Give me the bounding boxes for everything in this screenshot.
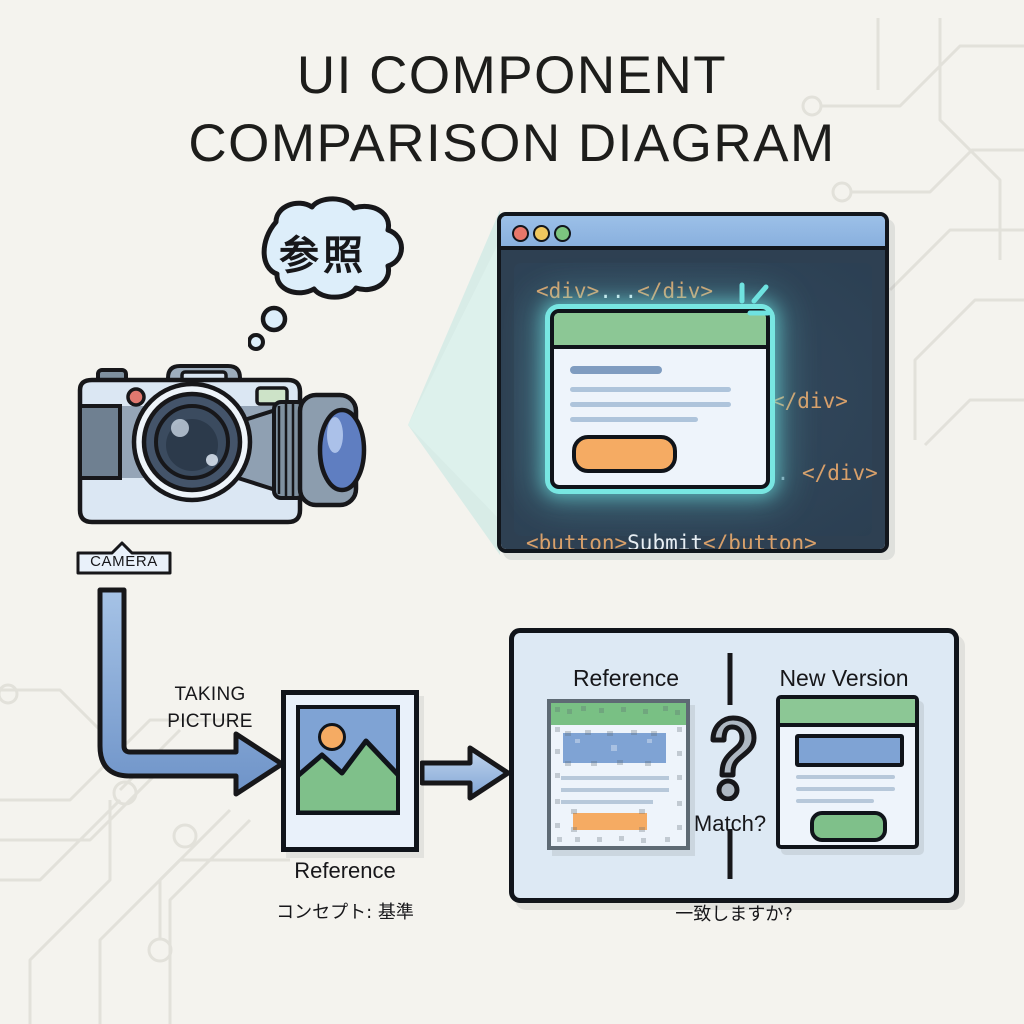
- code-ellipsis: ...: [599, 279, 637, 303]
- sparkle-icon: [736, 281, 782, 327]
- code-editor-surface: <div>...</div> </div> .. </div> <button>…: [514, 263, 872, 536]
- taking-picture-label: TAKING PICTURE: [150, 682, 270, 736]
- maximize-button-icon[interactable]: [554, 225, 571, 242]
- camera-illustration: [60, 350, 400, 550]
- code-line-div-close-2: .. </div>: [764, 461, 878, 485]
- comparison-left-header: Reference: [536, 665, 716, 692]
- comparison-panel: Reference New Version: [509, 628, 959, 903]
- reference-photo-caption: Reference: [271, 858, 419, 884]
- code-editor-body: <div>...</div> </div> .. </div> <button>…: [501, 250, 885, 549]
- code-line-div-close-1: </div>: [772, 389, 848, 413]
- thought-bubble: 参照: [228, 196, 418, 316]
- card-submit-button[interactable]: [572, 435, 677, 473]
- reference-photo-thumbnail[interactable]: [281, 690, 419, 852]
- thought-bubble-text: 参照: [228, 196, 418, 308]
- pixelation-noise-overlay: [551, 703, 686, 846]
- title-line-1: UI COMPONENT: [297, 46, 727, 105]
- new-mock-line-3: [796, 799, 874, 803]
- page-title: UI COMPONENT COMPARISON DIAGRAM: [0, 42, 1024, 178]
- card-text-line-1: [570, 387, 731, 392]
- title-line-2: COMPARISON DIAGRAM: [0, 110, 1024, 178]
- comparison-reference-mock: [547, 699, 690, 850]
- card-text-line-2: [570, 402, 731, 407]
- comparison-new-version-mock: [776, 695, 919, 849]
- question-mark-icon: [700, 715, 762, 801]
- minimize-button-icon[interactable]: [533, 225, 550, 242]
- diagram-canvas: UI COMPONENT COMPARISON DIAGRAM 参照: [0, 0, 1024, 1024]
- code-tag-div-open: <div>: [536, 279, 599, 303]
- new-mock-button: [810, 811, 887, 842]
- photo-sun-icon: [318, 723, 346, 751]
- card-header-bar: [554, 313, 766, 349]
- reference-photo-caption-jp: コンセプト: 基準: [251, 898, 439, 924]
- code-tag-button-open: <button>: [526, 531, 627, 553]
- code-line-button: <button>Submit</button>: [526, 531, 817, 553]
- taking-picture-line-2: PICTURE: [150, 709, 270, 736]
- comparison-caption-jp: 一致しますか?: [604, 900, 864, 926]
- photo-image-area: [296, 705, 400, 815]
- highlighted-ui-component-card[interactable]: [550, 309, 770, 489]
- new-mock-line-2: [796, 787, 895, 791]
- code-tag-button-close: </button>: [703, 531, 817, 553]
- camera-label-tag: [76, 545, 172, 575]
- code-editor-window[interactable]: <div>...</div> </div> .. </div> <button>…: [497, 212, 889, 553]
- card-title-line: [570, 366, 662, 374]
- close-button-icon[interactable]: [512, 225, 529, 242]
- comparison-right-header: New Version: [754, 665, 934, 692]
- taking-picture-line-1: TAKING: [150, 682, 270, 709]
- code-line-div-open: <div>...</div>: [536, 279, 713, 303]
- new-mock-line-1: [796, 775, 895, 779]
- thought-bubble-dots: [248, 305, 308, 355]
- code-tag-div-close: </div>: [637, 279, 713, 303]
- window-titlebar: [501, 216, 885, 250]
- code-tag-div-close-2: </div>: [802, 461, 878, 485]
- new-mock-header: [780, 699, 915, 727]
- match-question-label: Match?: [680, 811, 780, 837]
- card-text-line-3: [570, 417, 698, 422]
- new-mock-box: [795, 734, 904, 767]
- reference-to-comparison-arrow: [420, 744, 512, 802]
- code-tag-div-close-1: </div>: [772, 389, 848, 413]
- code-button-text: Submit: [627, 531, 703, 553]
